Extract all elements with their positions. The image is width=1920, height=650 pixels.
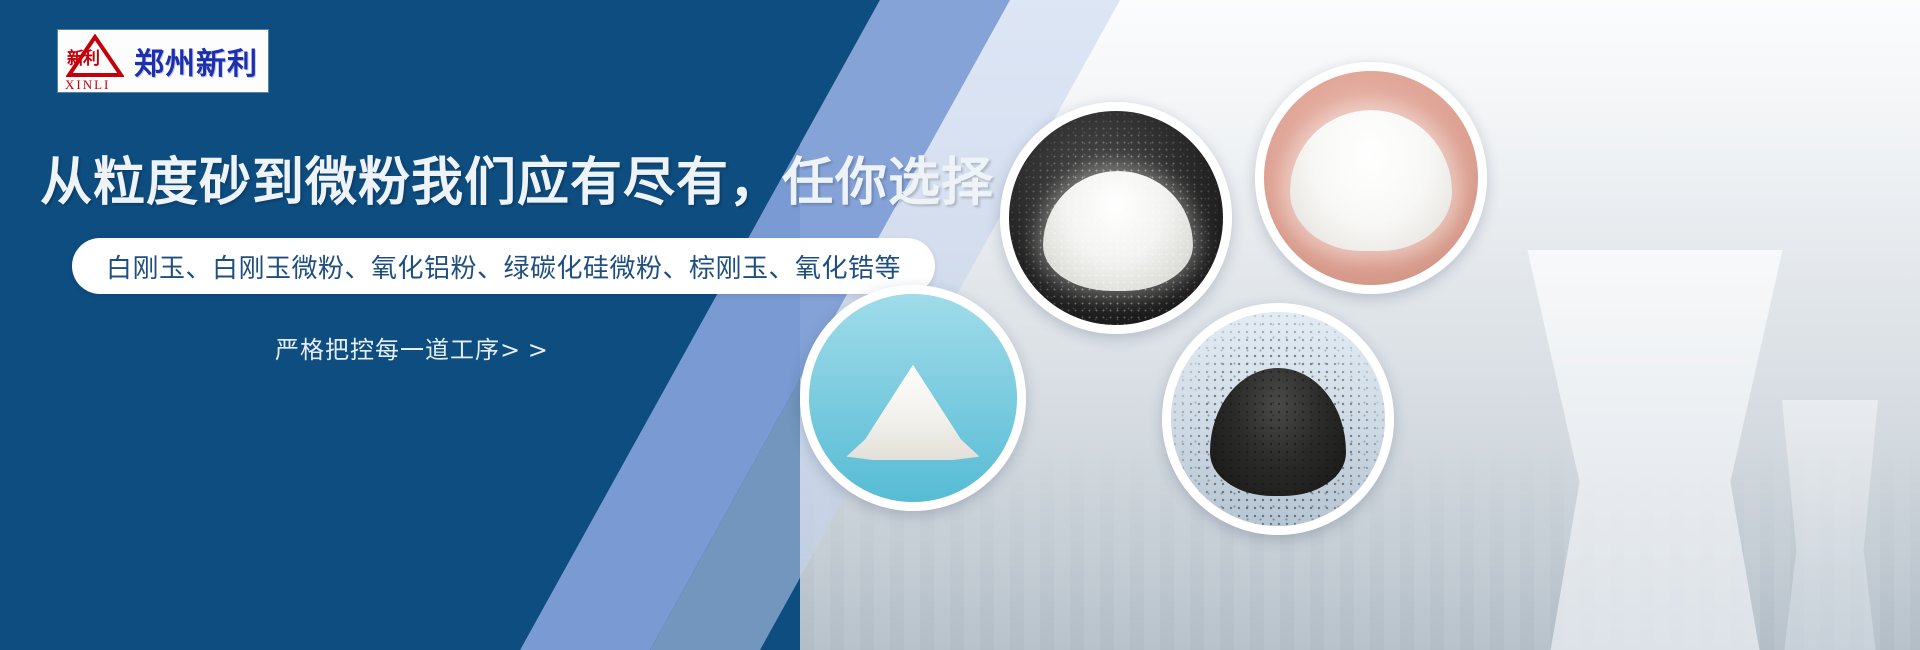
chevron-right-icon: > > — [500, 336, 548, 364]
product-photo-white-fused-alumina-grain[interactable] — [1000, 102, 1232, 334]
product-photo-aluminium-oxide-powder[interactable] — [800, 285, 1026, 511]
logo-mark: 新利 XINLI — [58, 32, 132, 90]
process-control-link[interactable]: 严格把控每一道工序> > — [275, 330, 548, 365]
product-list-pill: 白刚玉、白刚玉微粉、氧化铝粉、绿碳化硅微粉、棕刚玉、氧化锆等 — [72, 238, 935, 294]
logo-wordmark: 郑州新利 — [134, 39, 258, 83]
logo-mark-en-text: XINLI — [65, 78, 110, 91]
page-title: 从粒度砂到微粉我们应有尽有，任你选择 — [40, 140, 994, 215]
product-list-text: 白刚玉、白刚玉微粉、氧化铝粉、绿碳化硅微粉、棕刚玉、氧化锆等 — [106, 248, 901, 285]
product-photo-white-alumina-micropowder[interactable] — [1255, 62, 1487, 294]
grain-speckle-texture — [1009, 111, 1223, 325]
promotional-banner: 新利 XINLI 郑州新利 从粒度砂到微粉我们应有尽有，任你选择 白刚玉、白刚玉… — [0, 0, 1920, 650]
logo-mark-cn-text: 新利 — [67, 51, 99, 68]
grain-speckle-texture — [1171, 312, 1385, 526]
company-logo[interactable]: 新利 XINLI 郑州新利 — [58, 30, 268, 92]
product-photo-green-silicon-carbide-grain[interactable] — [1162, 303, 1394, 535]
process-control-label: 严格把控每一道工序 — [275, 336, 500, 364]
